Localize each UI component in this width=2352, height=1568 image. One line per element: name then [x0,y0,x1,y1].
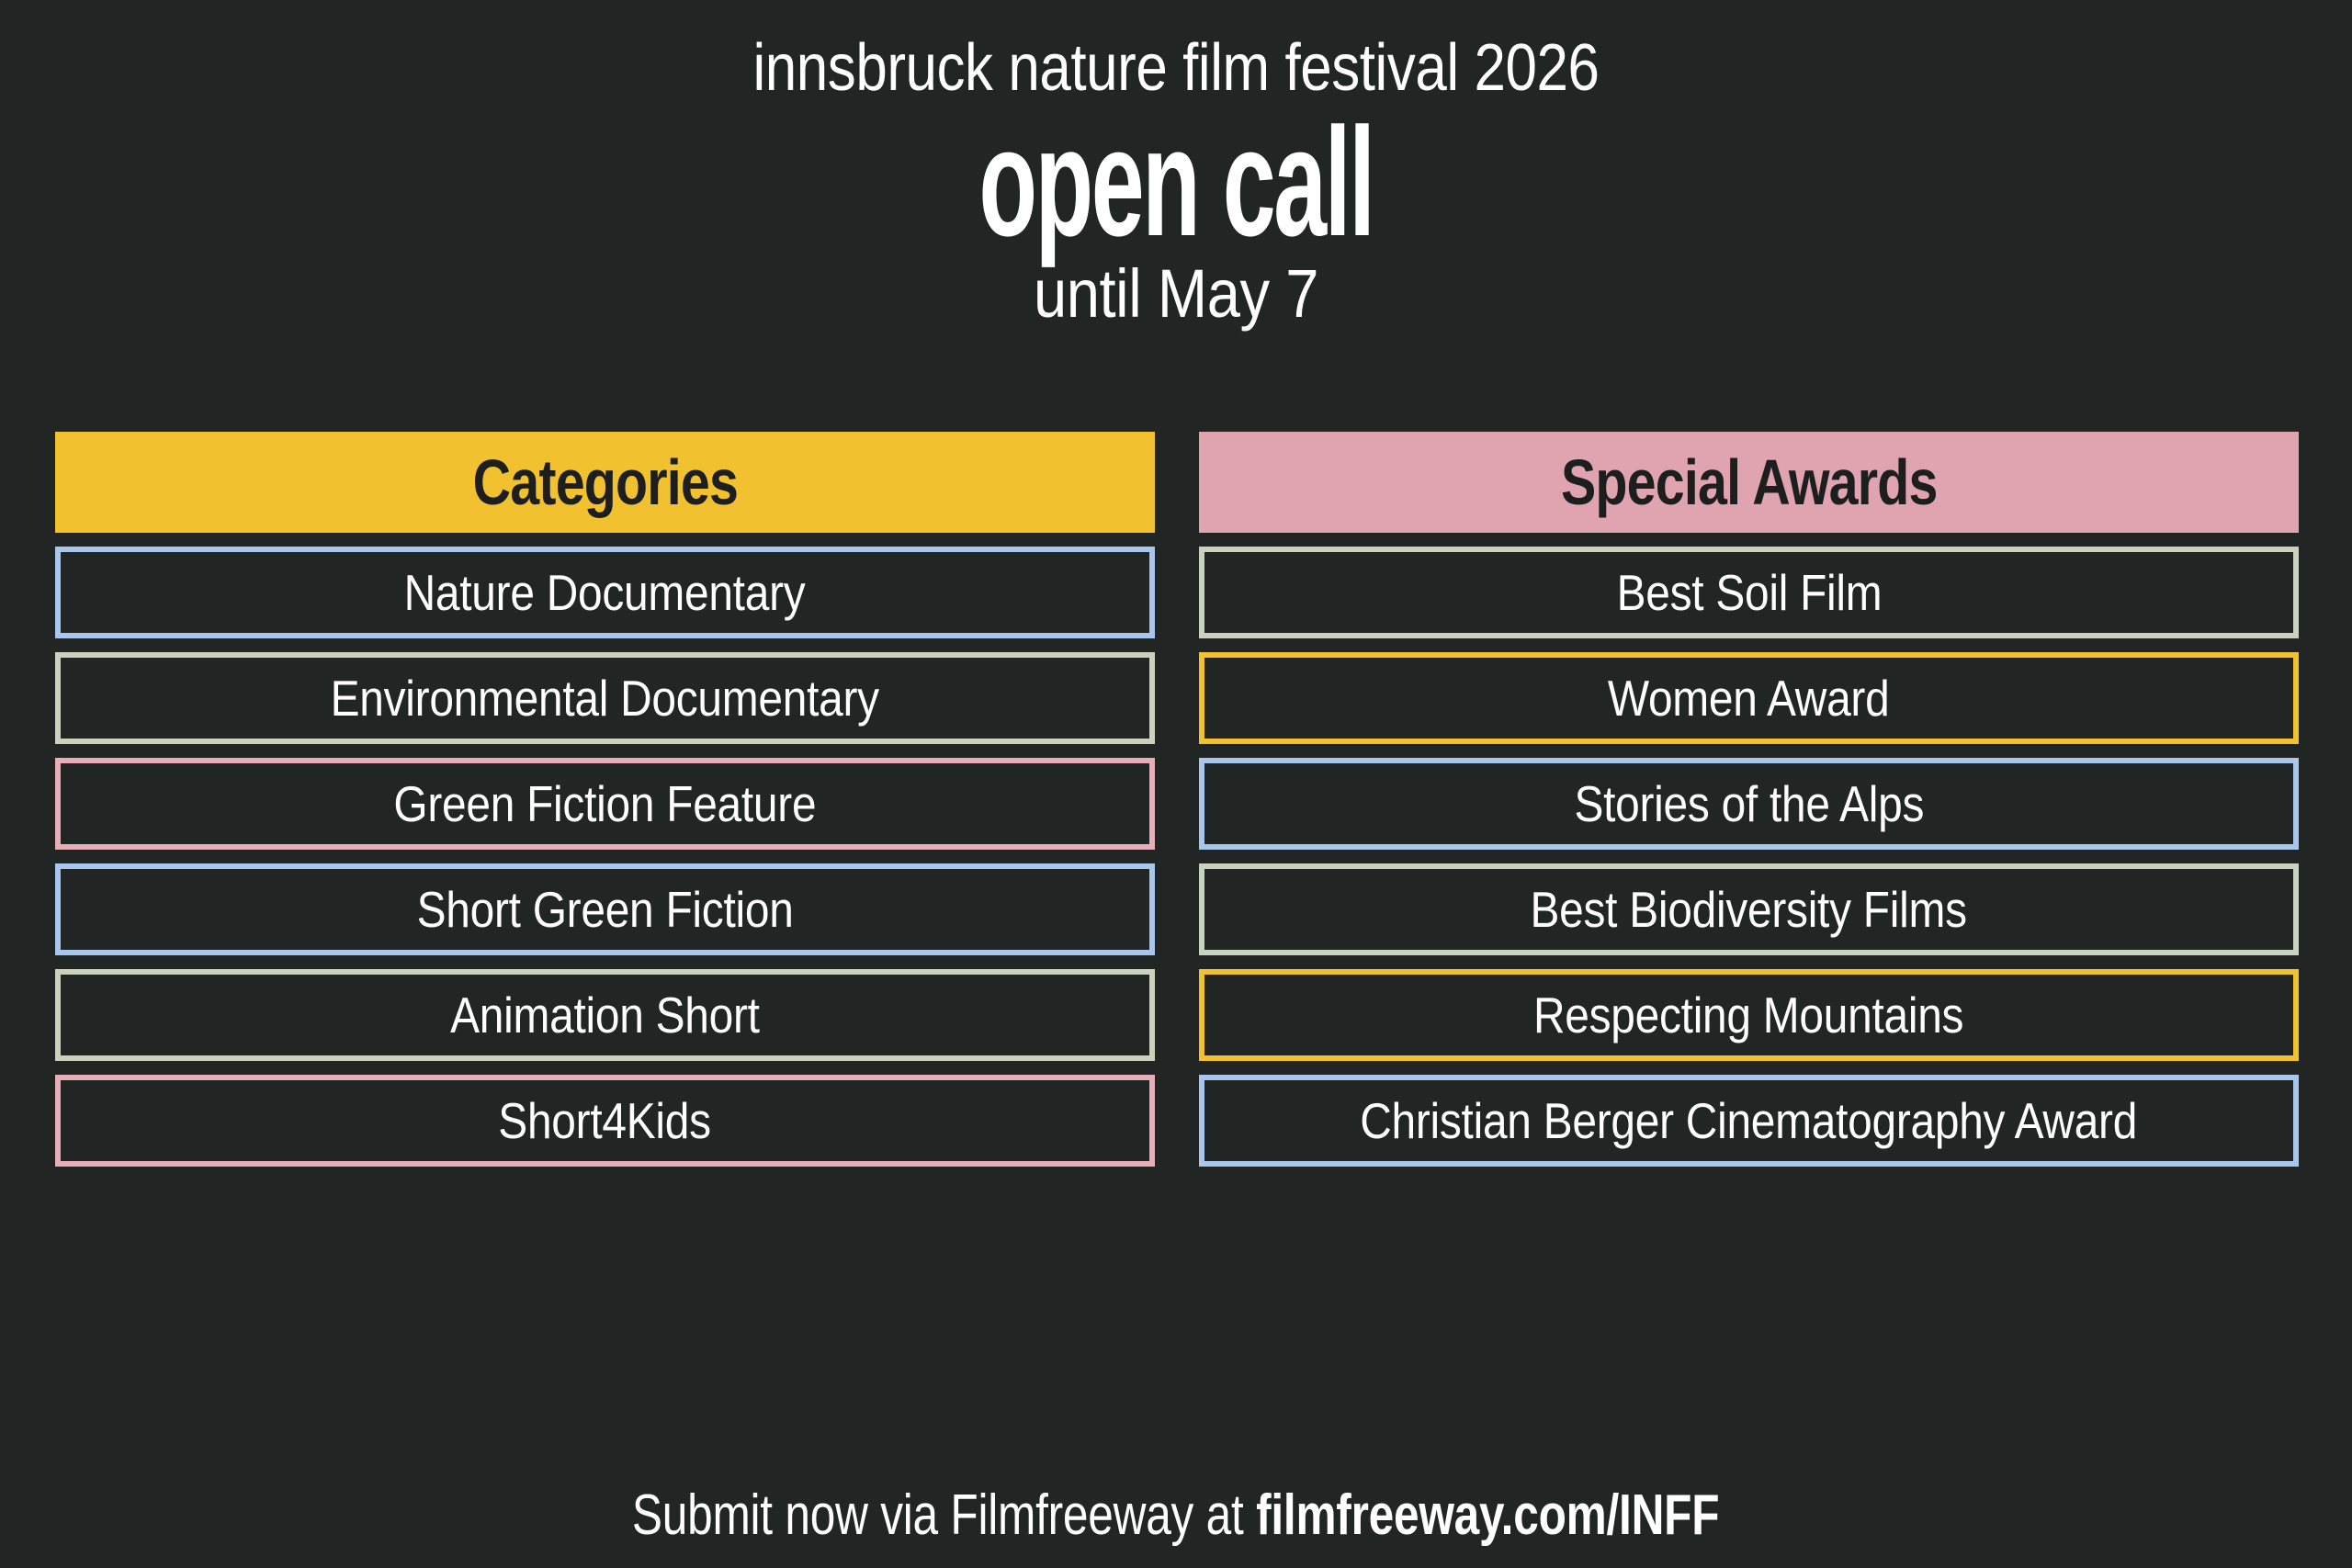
category-item-label: Nature Documentary [404,563,806,622]
categories-header-label: Categories [472,446,737,519]
award-item-label: Best Biodiversity Films [1531,880,1967,939]
festival-name: innsbruck nature film festival 2026 [164,35,2188,101]
award-item[interactable]: Respecting Mountains [1199,969,2299,1061]
category-item-label: Short Green Fiction [417,880,794,939]
category-item-label: Environmental Documentary [331,669,879,728]
category-item[interactable]: Short Green Fiction [55,863,1155,955]
award-item[interactable]: Best Soil Film [1199,547,2299,638]
special-awards-header-label: Special Awards [1561,446,1938,519]
submit-prefix: Submit now via Filmfreeway at [632,1483,1256,1547]
filmfreeway-url[interactable]: filmfreeway.com/INFF [1256,1483,1719,1547]
award-item-label: Women Award [1608,669,1890,728]
award-item[interactable]: Stories of the Alps [1199,758,2299,850]
special-awards-column: Special Awards Best Soil Film Women Awar… [1199,432,2299,1167]
columns-container: Categories Nature Documentary Environmen… [55,432,2299,1167]
category-item-label: Animation Short [450,986,760,1044]
category-item[interactable]: Short4Kids [55,1075,1155,1167]
award-item-label: Stories of the Alps [1574,774,1924,833]
open-call-poster: innsbruck nature film festival 2026 open… [0,0,2352,1568]
categories-column: Categories Nature Documentary Environmen… [55,432,1155,1167]
poster-header: innsbruck nature film festival 2026 open… [0,0,2352,328]
submission-deadline: until May 7 [141,260,2211,328]
category-item[interactable]: Environmental Documentary [55,652,1155,744]
category-item[interactable]: Animation Short [55,969,1155,1061]
award-item[interactable]: Women Award [1199,652,2299,744]
special-awards-header: Special Awards [1199,432,2299,533]
category-item[interactable]: Green Fiction Feature [55,758,1155,850]
category-item[interactable]: Nature Documentary [55,547,1155,638]
open-call-title: open call [447,107,1905,258]
award-item[interactable]: Christian Berger Cinematography Award [1199,1075,2299,1167]
categories-header: Categories [55,432,1155,533]
award-item-label: Christian Berger Cinematography Award [1361,1091,2138,1150]
award-item-label: Best Soil Film [1616,563,1882,622]
submit-instruction: Submit now via Filmfreeway at filmfreewa… [632,1483,1719,1548]
category-item-label: Green Fiction Feature [394,774,817,833]
category-item-label: Short4Kids [499,1091,711,1150]
award-item-label: Respecting Mountains [1533,986,1963,1044]
poster-footer: Submit now via Filmfreeway at filmfreewa… [0,1483,2352,1548]
award-item[interactable]: Best Biodiversity Films [1199,863,2299,955]
